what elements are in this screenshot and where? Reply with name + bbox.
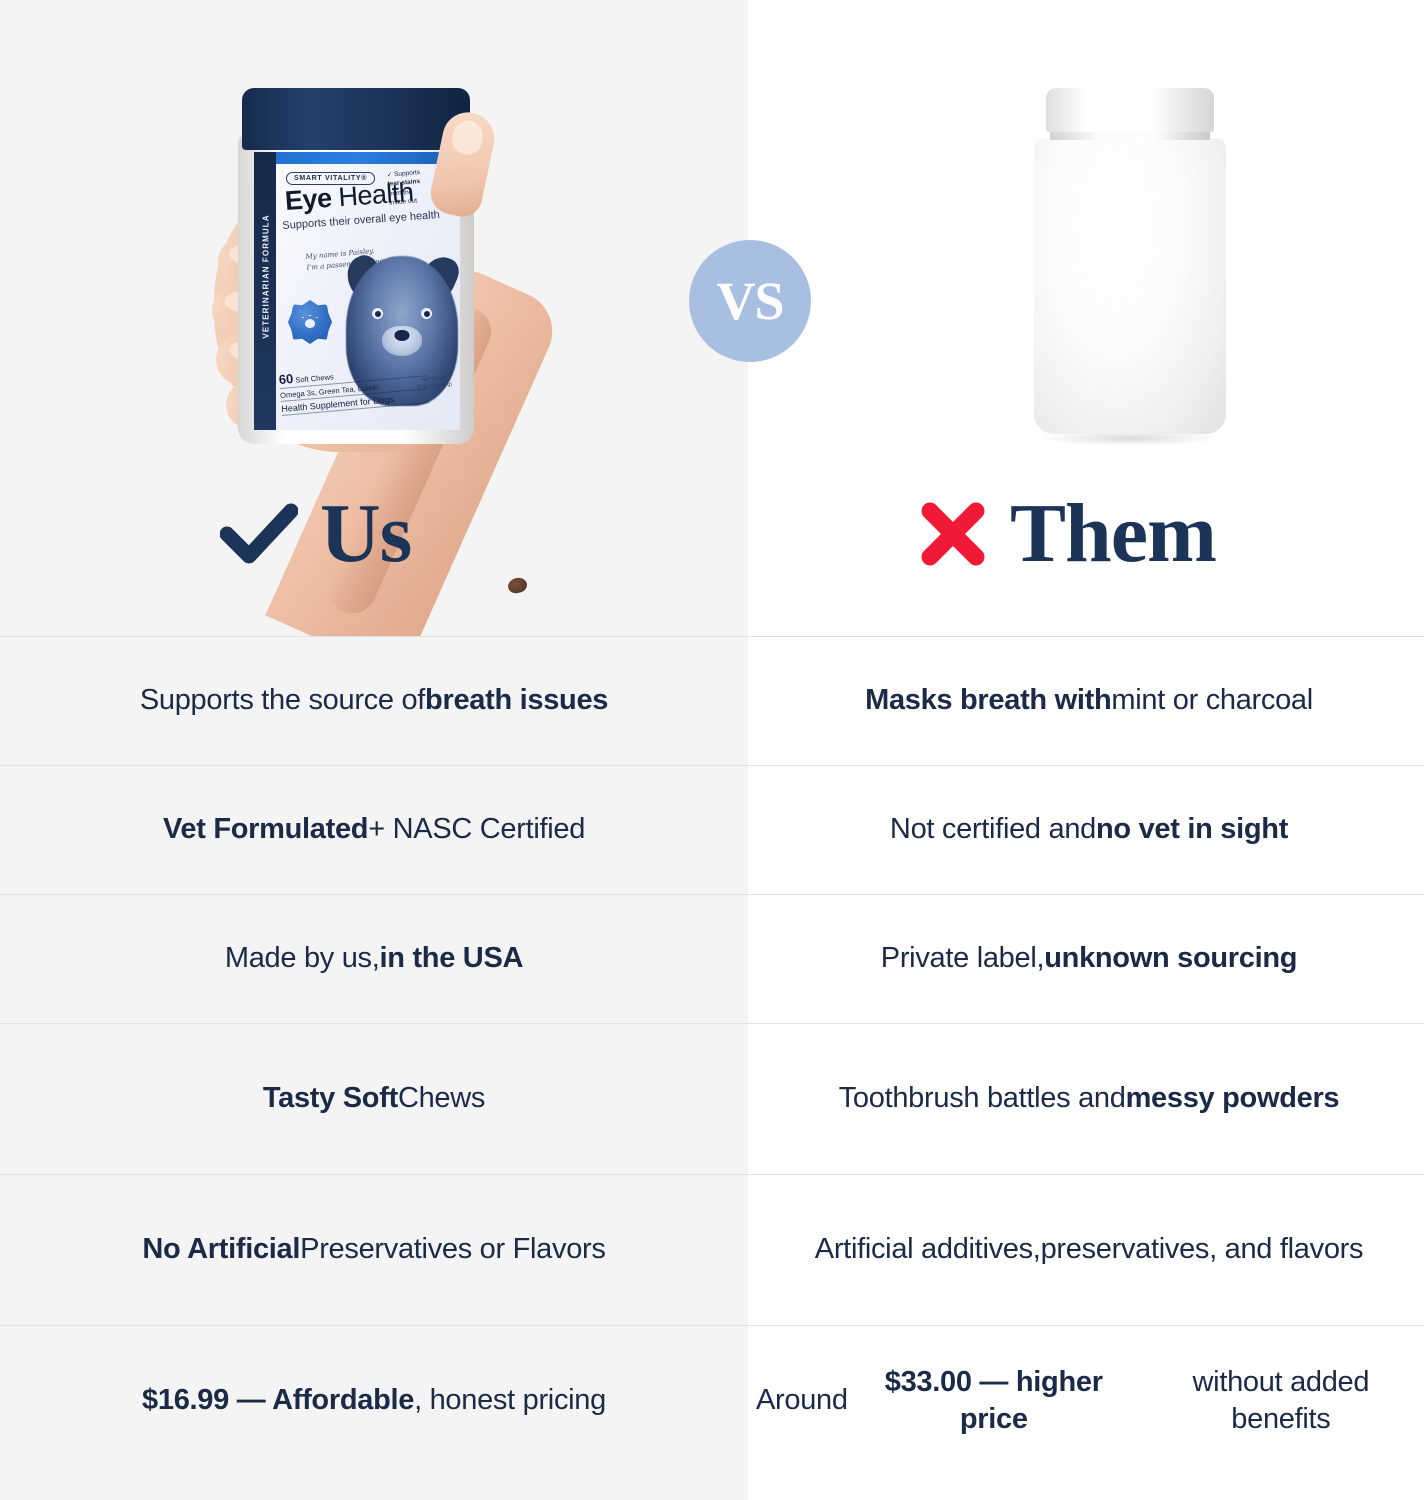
us-cell: Made by us, in the USA — [0, 895, 748, 1023]
them-cell: Masks breath with mint or charcoal — [748, 637, 1424, 765]
vs-badge-label: VS — [716, 274, 783, 328]
competitor-jar — [1032, 88, 1228, 438]
plain-text: Around — [756, 1382, 848, 1419]
us-cell: Supports the source of breath issues — [0, 637, 748, 765]
emphasis-text: messy powders — [1126, 1080, 1340, 1117]
emphasis-text: No Artificial — [142, 1231, 300, 1268]
plain-text: , honest pricing — [414, 1382, 606, 1419]
emphasis-text: Masks breath with — [865, 682, 1111, 719]
jar-lid — [242, 88, 470, 150]
label-title-bold: Eye — [284, 183, 333, 216]
claim-line-3: from the — [388, 189, 412, 198]
header-us: Us — [220, 492, 411, 576]
us-cell: $16.99 — Affordable, honest pricing — [0, 1326, 748, 1476]
header-them-label: Them — [1010, 492, 1216, 576]
plain-text: mint or charcoal — [1111, 682, 1313, 719]
plain-text: Preservatives or Flavors — [300, 1231, 605, 1268]
chew-count-number: 60 — [278, 370, 294, 386]
vs-badge: VS — [689, 240, 811, 362]
paw-seal-badge — [288, 300, 332, 344]
them-cell: Not certified and no vet in sight — [748, 766, 1424, 894]
them-cell: Private label, unknown sourcing — [748, 895, 1424, 1023]
emphasis-text: no vet in sight — [1096, 811, 1288, 848]
plain-text: Not certified and — [890, 811, 1096, 848]
plain-text: Toothbrush battles and — [839, 1080, 1126, 1117]
us-cell: No Artificial Preservatives or Flavors — [0, 1175, 748, 1325]
them-cell: Around $33.00 — higher pricewithout adde… — [748, 1326, 1424, 1476]
header-them: Them — [918, 492, 1216, 576]
x-mark-icon — [918, 501, 988, 567]
emphasis-text: $16.99 — Affordable — [142, 1382, 414, 1419]
plain-text: Made by us, — [225, 940, 380, 977]
comparison-table: Supports the source of breath issuesMask… — [0, 636, 1424, 1476]
them-cell: Toothbrush battles andmessy powders — [748, 1024, 1424, 1174]
plain-text: Supports the source of — [140, 682, 425, 719]
chew-count-unit: Soft Chews — [295, 372, 334, 384]
claim-line-2: tear stains — [387, 178, 420, 188]
us-cell: Tasty Soft Chews — [0, 1024, 748, 1174]
emphasis-text: in the USA — [380, 940, 524, 977]
label-top-band — [254, 152, 460, 164]
jar-label: VETERINARIAN FORMULA SMART VITALITY® Eye… — [254, 152, 460, 430]
label-vertical-text: VETERINARIAN FORMULA — [262, 197, 271, 357]
table-row: Vet Formulated + NASC CertifiedNot certi… — [0, 765, 1424, 894]
plain-text: Private label, — [881, 940, 1044, 977]
emphasis-text: unknown sourcing — [1044, 940, 1297, 977]
table-row: $16.99 — Affordable, honest pricingAroun… — [0, 1325, 1424, 1476]
claim-line-4: inside out — [389, 198, 417, 207]
skin-mole — [506, 575, 529, 595]
them-cell: Artificial additives,preservatives, and … — [748, 1175, 1424, 1325]
dog-eye-right — [421, 308, 432, 319]
emphasis-text: Tasty Soft — [263, 1080, 398, 1117]
plain-text: preservatives, and flavors — [1041, 1231, 1364, 1268]
plain-text: + NASC Certified — [368, 811, 585, 848]
plain-text: without added benefits — [1140, 1364, 1422, 1438]
product-jar: VETERINARIAN FORMULA SMART VITALITY® Eye… — [238, 88, 474, 444]
table-row: No Artificial Preservatives or FlavorsAr… — [0, 1174, 1424, 1325]
table-row: Tasty Soft ChewsToothbrush battles andme… — [0, 1023, 1424, 1174]
table-row: Supports the source of breath issuesMask… — [0, 636, 1424, 765]
checkmark-icon — [220, 503, 298, 565]
comparison-infographic: VETERINARIAN FORMULA SMART VITALITY® Eye… — [0, 0, 1424, 1500]
claim-line-1: Supports — [394, 169, 421, 178]
competitor-jar-lid — [1046, 88, 1214, 132]
emphasis-text: breath issues — [425, 682, 608, 719]
competitor-jar-body — [1034, 138, 1226, 434]
table-row: Made by us, in the USAPrivate label, unk… — [0, 894, 1424, 1023]
dog-eye-left — [372, 308, 383, 319]
emphasis-text: Vet Formulated — [163, 811, 368, 848]
plain-text: Chews — [398, 1080, 485, 1117]
dog-nose — [395, 330, 410, 341]
label-bottom-block: 60Soft Chews Omega 3s, Green Tea, Lutein… — [278, 357, 429, 416]
emphasis-text: $33.00 — higher price — [848, 1364, 1140, 1438]
hero-section: VETERINARIAN FORMULA SMART VITALITY® Eye… — [0, 0, 1424, 636]
plain-text: Artificial additives, — [815, 1231, 1041, 1268]
us-cell: Vet Formulated + NASC Certified — [0, 766, 748, 894]
header-us-label: Us — [320, 492, 411, 576]
label-side-bar: VETERINARIAN FORMULA — [254, 152, 276, 430]
